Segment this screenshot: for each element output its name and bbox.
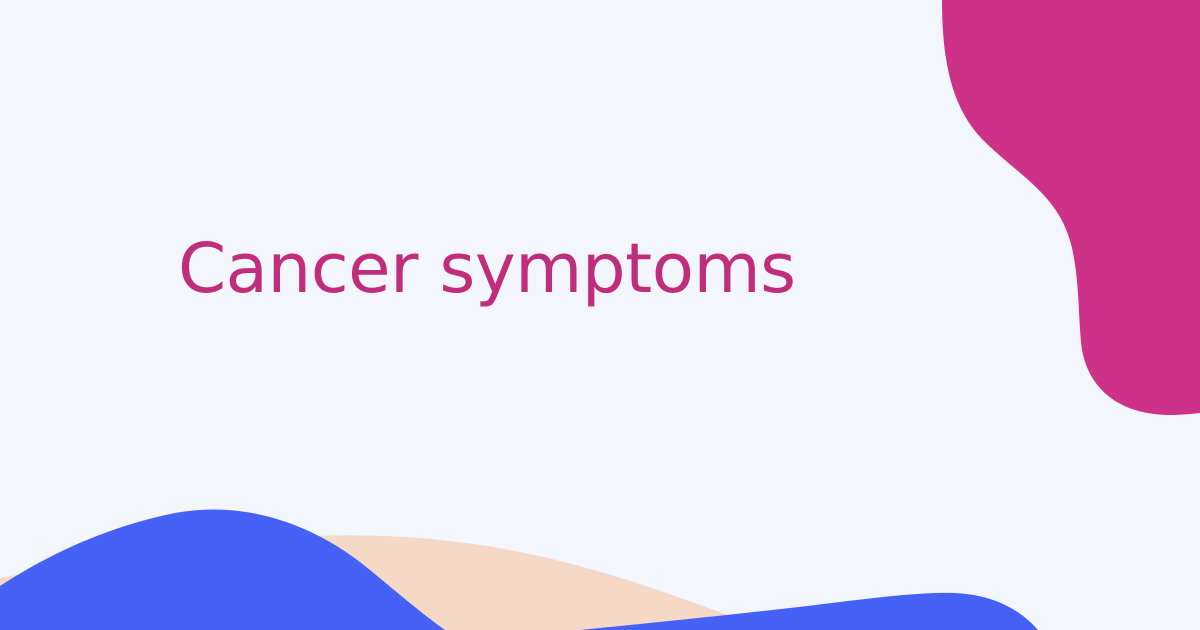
title-wrapper: Cancer symptoms xyxy=(178,232,1078,307)
hero-canvas: Cancer symptoms xyxy=(0,0,1200,630)
hero-content: Cancer symptoms xyxy=(0,0,1200,630)
page-title: Cancer symptoms xyxy=(178,232,1078,307)
